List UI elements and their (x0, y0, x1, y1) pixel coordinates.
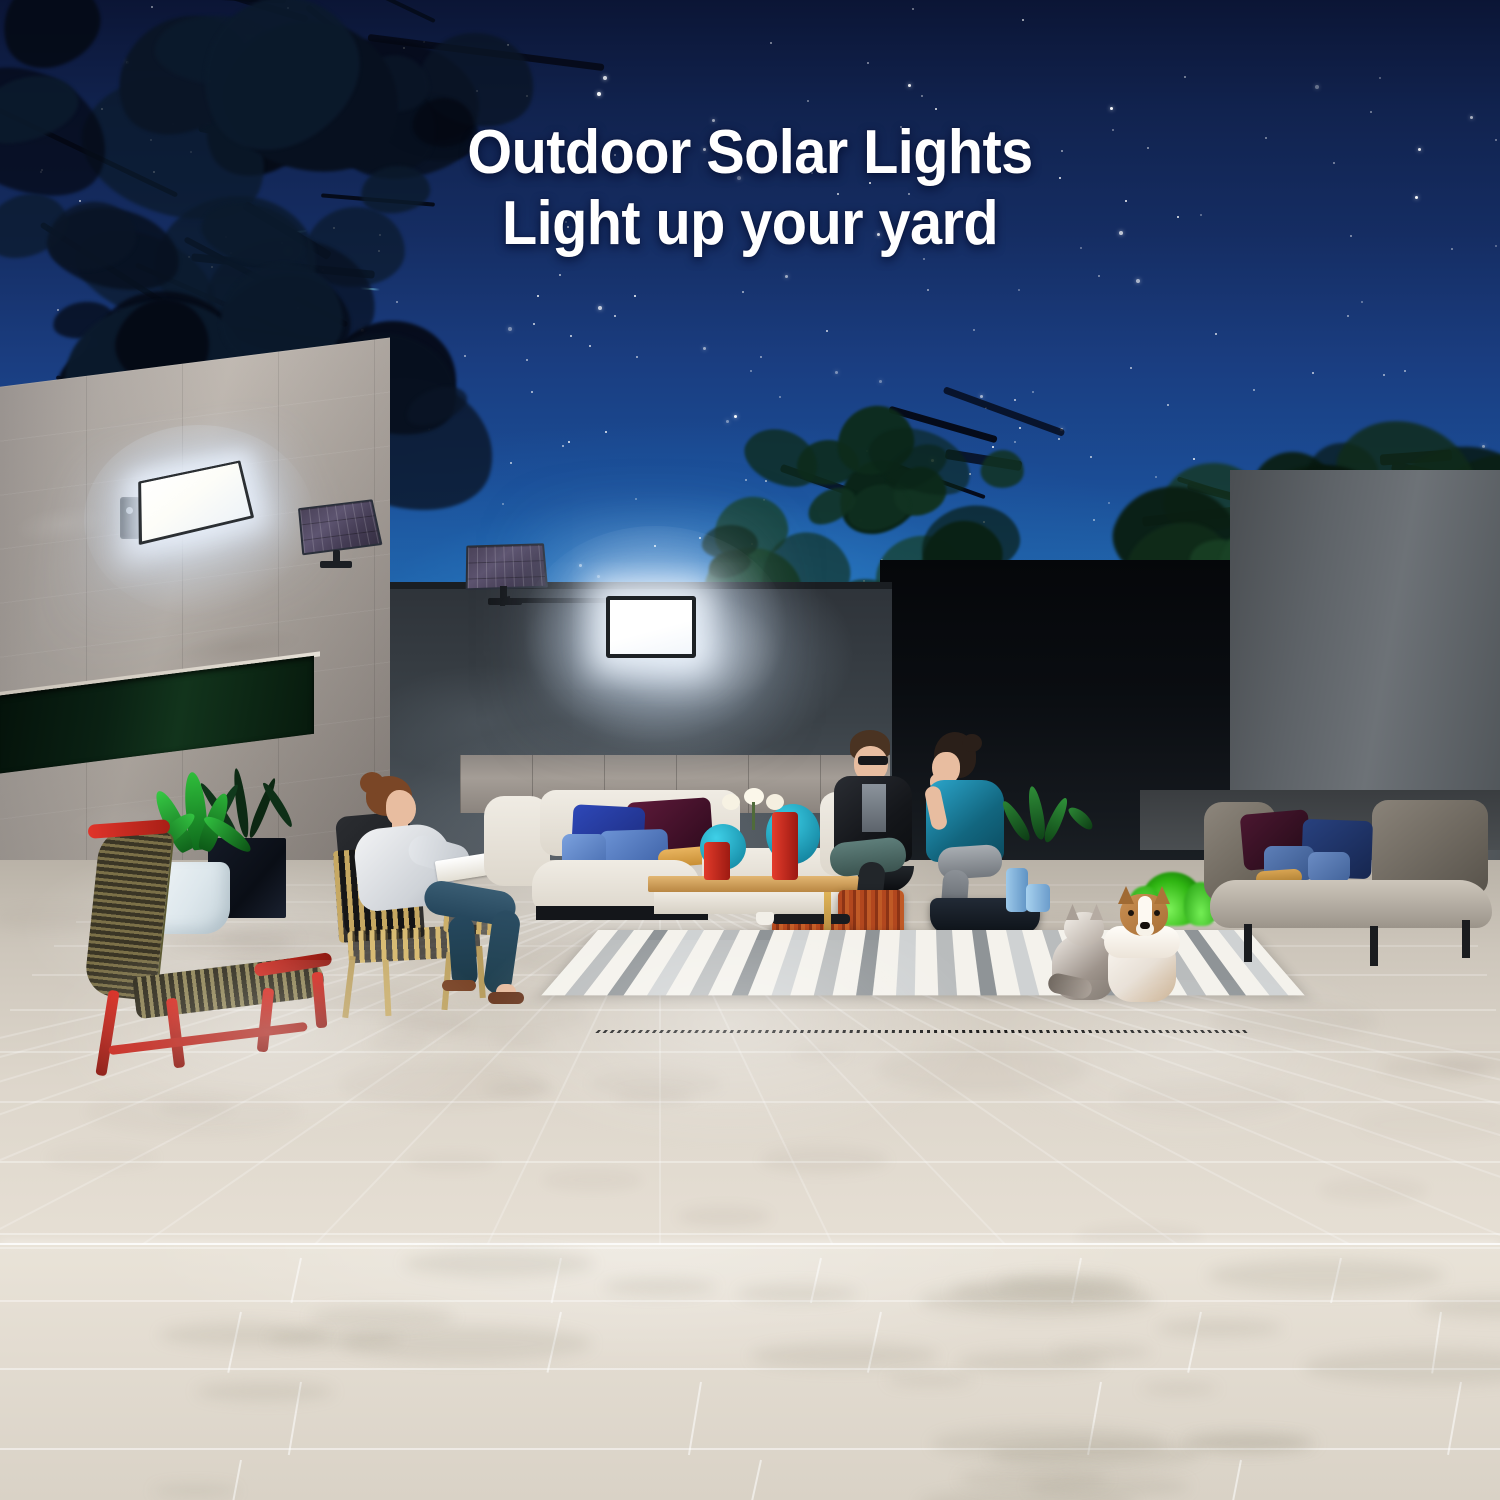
star (533, 323, 535, 325)
star (1451, 248, 1453, 250)
blue-vase-group (1006, 868, 1050, 912)
white-cup-icon (756, 912, 774, 925)
blue-vase-tall (1006, 868, 1028, 912)
paving-texture (153, 1485, 238, 1497)
star (835, 371, 838, 374)
rug-fringe (595, 1030, 1251, 1033)
dog-eye-icon (1154, 910, 1160, 916)
paving-texture (159, 1100, 234, 1116)
star (1167, 404, 1169, 406)
star (1315, 85, 1319, 89)
paving-texture (494, 1035, 550, 1047)
paving-texture (339, 1061, 547, 1107)
star (1018, 289, 1020, 291)
blue-vase-short (1026, 884, 1050, 912)
paving-seam (0, 1161, 1500, 1163)
red-vase-short (704, 842, 730, 880)
star (1215, 333, 1217, 335)
star (927, 289, 929, 291)
star (1110, 107, 1113, 110)
star (1347, 315, 1349, 317)
star (1130, 367, 1132, 369)
calf (448, 915, 479, 989)
star (1495, 139, 1497, 141)
chair-stretcher (108, 1022, 308, 1055)
solar-flood-light-left (118, 455, 268, 565)
star (1383, 374, 1385, 376)
star (1361, 301, 1363, 303)
star (1370, 111, 1372, 113)
star (973, 329, 975, 331)
paving-texture (1115, 1079, 1298, 1119)
plant-behind-sofa (1000, 786, 1096, 856)
star (636, 356, 638, 358)
hair-bun (962, 734, 982, 752)
paving-texture (268, 1330, 400, 1348)
paving-texture (677, 1206, 771, 1227)
paving-texture (542, 1169, 643, 1191)
product-lifestyle-image: Outdoor Solar Lights Light up your yard (0, 0, 1500, 1500)
paving-texture (404, 1250, 594, 1277)
star (1108, 502, 1110, 504)
star (807, 100, 809, 102)
star (562, 445, 564, 447)
solar-flood-light-center (606, 596, 696, 658)
star (1404, 370, 1406, 372)
paving-seam (0, 1300, 1500, 1302)
page-title: Outdoor Solar Lights Light up your yard (53, 118, 1448, 259)
paving-texture (1319, 1178, 1428, 1202)
paving-texture (616, 1088, 694, 1105)
paving-seam (0, 1368, 1500, 1370)
star (912, 8, 914, 10)
star (879, 380, 882, 383)
star (559, 274, 561, 276)
star (1022, 19, 1024, 21)
star (531, 391, 533, 393)
star (1058, 438, 1060, 440)
star (1032, 391, 1034, 393)
hair-bun (360, 772, 384, 794)
star (760, 356, 762, 358)
star (779, 396, 781, 398)
star (568, 441, 570, 443)
star (1495, 245, 1497, 247)
paving-seam (0, 1233, 1500, 1235)
pillow-lightblue (1308, 852, 1350, 882)
star (935, 108, 937, 110)
led-panel (606, 596, 696, 658)
paving-texture (1210, 1003, 1377, 1040)
star (742, 291, 744, 293)
star (502, 503, 504, 505)
paving-texture (1142, 1383, 1217, 1394)
star (1470, 116, 1473, 119)
daybed-leg (1462, 920, 1470, 958)
headline-line-2: Light up your yard (53, 189, 1448, 260)
wood-table-top-dark (772, 914, 850, 924)
tree-foliage (736, 416, 828, 498)
star (921, 95, 923, 97)
paving-texture (996, 1274, 1130, 1293)
sandal (488, 992, 524, 1004)
star (1136, 279, 1140, 283)
orchid (718, 788, 798, 828)
star (867, 62, 869, 64)
star (980, 395, 983, 398)
star (598, 306, 602, 310)
star (1312, 372, 1314, 374)
paving-texture (196, 1382, 334, 1401)
chair-leg (95, 990, 119, 1077)
star (634, 295, 636, 297)
daybed-right (1204, 796, 1500, 966)
paving-texture (887, 1374, 973, 1386)
star (785, 275, 788, 278)
star (570, 335, 572, 337)
orchid-bloom (722, 794, 740, 810)
shirt-gray (862, 784, 886, 832)
star (635, 498, 637, 500)
dog (1098, 886, 1194, 1010)
paving-texture (989, 1440, 1200, 1470)
star (1093, 519, 1095, 521)
orchid-bloom (766, 794, 784, 810)
star (908, 84, 911, 87)
sunglasses-icon (858, 756, 888, 765)
star (703, 347, 706, 350)
daybed-leg (1244, 924, 1252, 962)
paving-texture (368, 1036, 431, 1050)
star (614, 315, 616, 317)
paving-texture (45, 1145, 159, 1170)
dog-nose-icon (1140, 922, 1150, 929)
star (605, 431, 607, 433)
star (589, 345, 591, 347)
paving-texture (310, 1307, 455, 1327)
star (750, 370, 752, 372)
paving-texture (1382, 1057, 1488, 1080)
star (537, 295, 539, 297)
paving-texture (738, 1285, 858, 1302)
paving-texture (377, 1013, 471, 1034)
paving-texture (604, 1279, 716, 1295)
paving-texture (1208, 1259, 1444, 1292)
paving-texture (760, 1146, 889, 1174)
paving-seam (0, 1247, 1500, 1249)
star (597, 92, 601, 96)
star (1098, 275, 1100, 277)
daybed-seat (1210, 880, 1492, 928)
star (826, 330, 828, 332)
orchid-stem (752, 802, 755, 830)
paving-texture (957, 1352, 1105, 1373)
paving-texture (407, 1152, 496, 1172)
headline-line-1: Outdoor Solar Lights (467, 118, 1032, 187)
star (1090, 456, 1092, 458)
paving-texture (1190, 1434, 1317, 1452)
star (1184, 76, 1186, 78)
sandal (442, 980, 476, 991)
paving-texture (1157, 1319, 1282, 1337)
paving-texture (877, 1047, 1088, 1093)
paving-texture (792, 1048, 849, 1060)
tree-foliage (979, 447, 1027, 491)
solar-panel-left-base (320, 561, 352, 568)
star (770, 42, 772, 44)
daybed-leg (1370, 926, 1378, 966)
paving-texture (959, 1468, 1108, 1489)
dog-eye-icon (1128, 910, 1134, 916)
bracket-bolt-icon (126, 507, 133, 514)
star (1379, 77, 1381, 79)
star (603, 76, 607, 80)
star (526, 359, 528, 361)
red-lounge-chair (78, 820, 348, 1070)
paving-texture (751, 1343, 938, 1369)
star (1253, 389, 1255, 391)
